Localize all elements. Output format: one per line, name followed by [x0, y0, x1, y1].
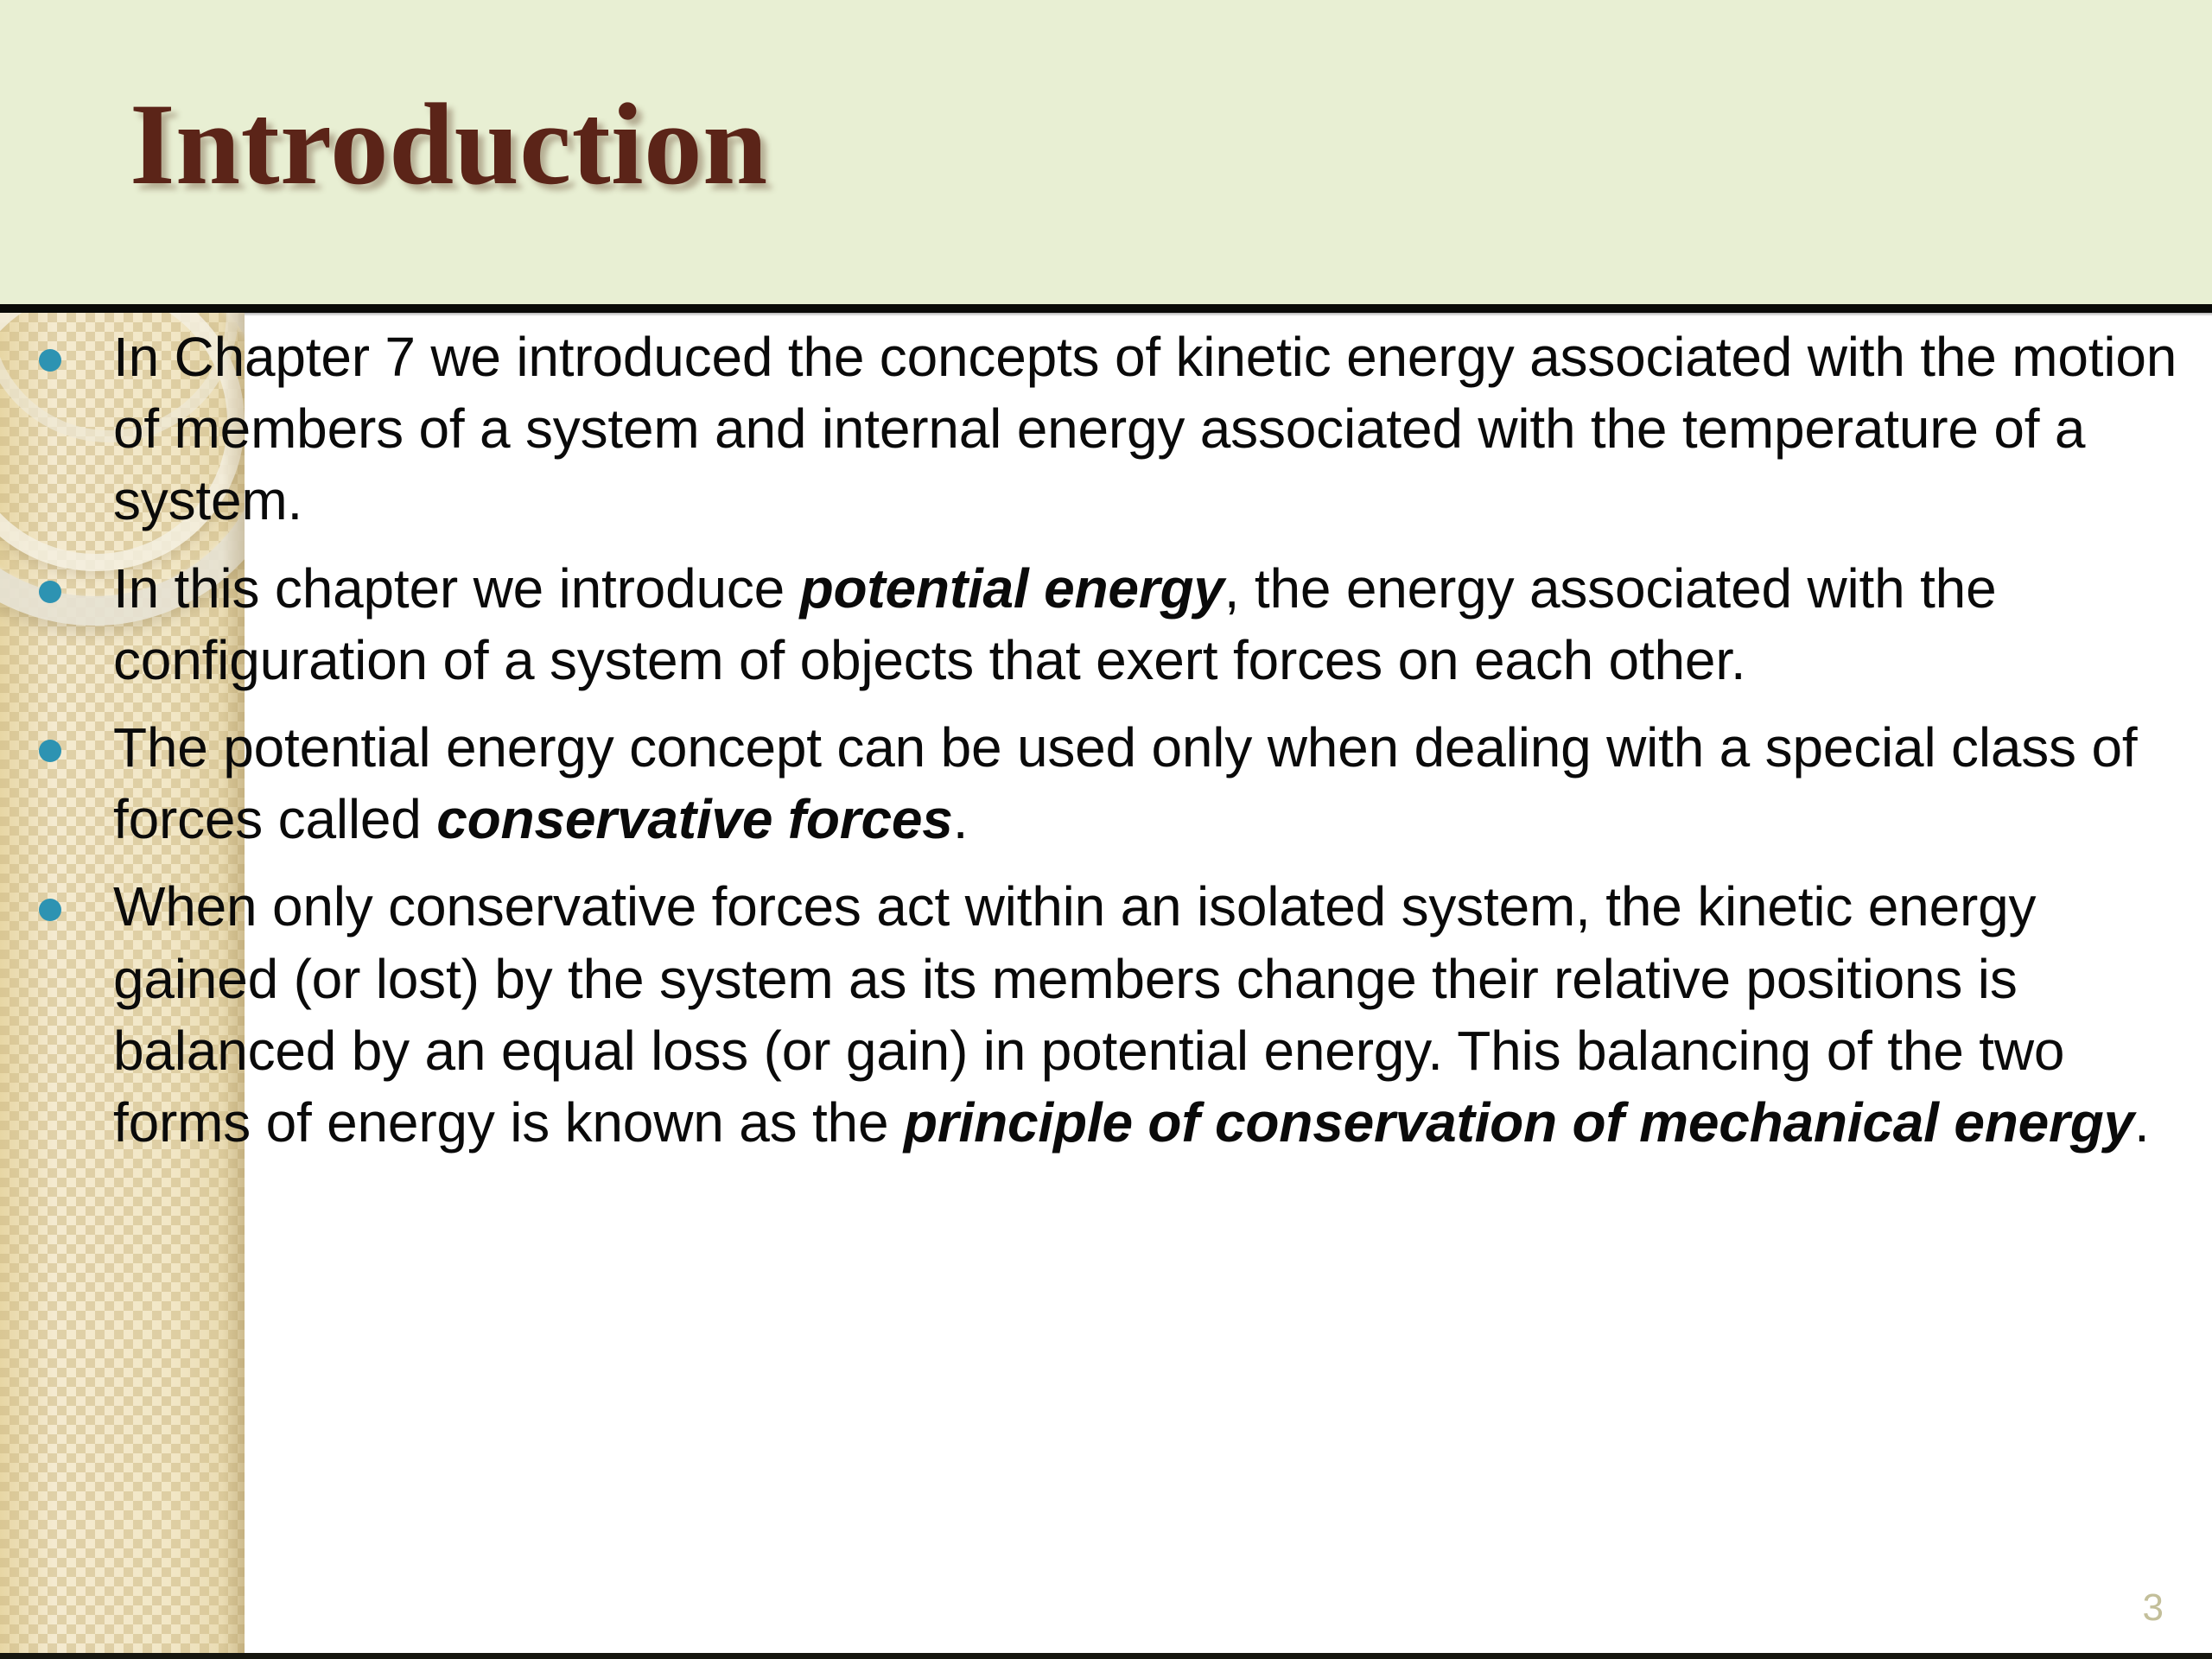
list-item: In this chapter we introduce potential e…	[0, 553, 2212, 696]
bullet-text: The potential energy concept can be used…	[113, 712, 2191, 855]
bullet-list: In Chapter 7 we introduced the concepts …	[0, 321, 2212, 1159]
list-item: In Chapter 7 we introduced the concepts …	[0, 321, 2212, 537]
bullet-text: In this chapter we introduce potential e…	[113, 553, 2191, 696]
bullet-dot-icon	[39, 740, 61, 762]
list-item: The potential energy concept can be used…	[0, 712, 2212, 855]
page-title: Introduction	[130, 86, 768, 203]
bullet-text: When only conservative forces act within…	[113, 871, 2191, 1159]
bullet-dot-icon	[39, 581, 61, 603]
bullet-dot-icon	[39, 899, 61, 921]
header-divider-rule	[0, 304, 2212, 313]
slide-body: In Chapter 7 we introduced the concepts …	[0, 321, 2212, 1652]
bullet-dot-icon	[39, 349, 61, 372]
list-item: When only conservative forces act within…	[0, 871, 2212, 1159]
page-number: 3	[2143, 1586, 2164, 1630]
slide-bottom-edge	[0, 1653, 2212, 1659]
presentation-slide: Introduction In Chapter 7 we introduced …	[0, 0, 2212, 1659]
bullet-text: In Chapter 7 we introduced the concepts …	[113, 321, 2191, 537]
